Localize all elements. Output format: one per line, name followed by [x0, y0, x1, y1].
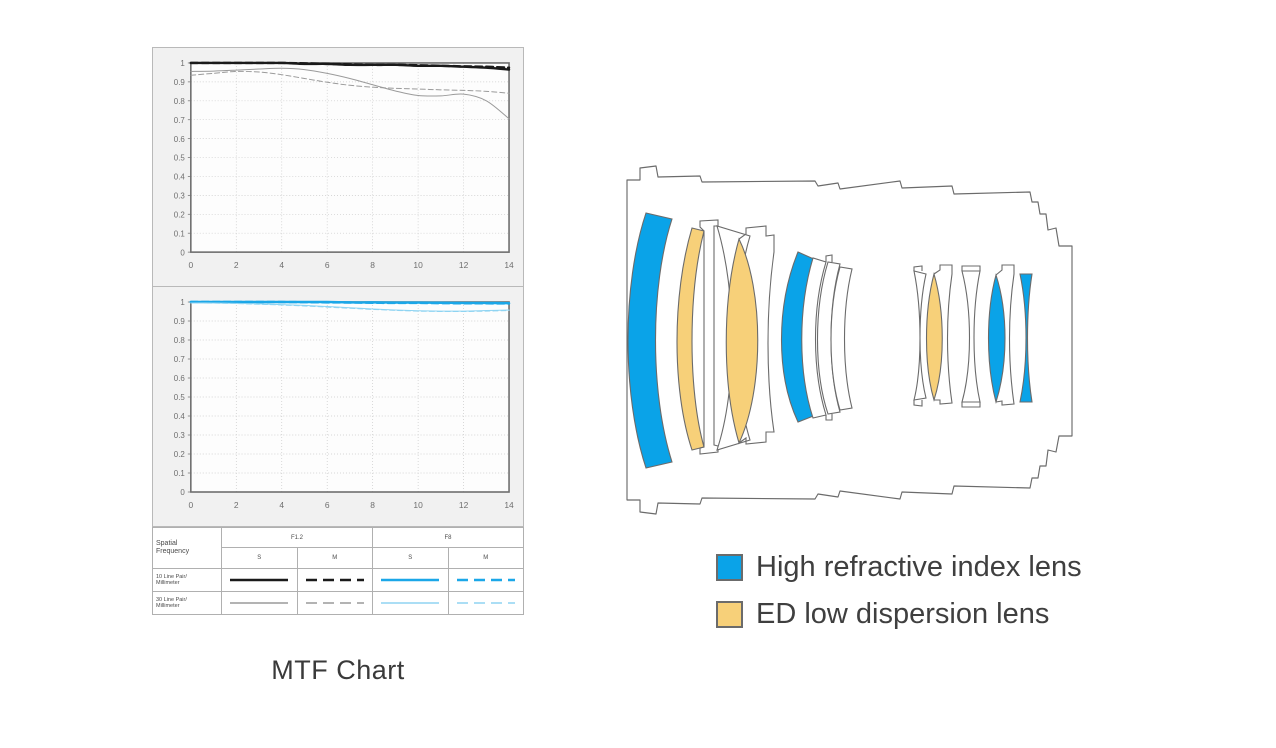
svg-text:0.3: 0.3	[174, 431, 186, 440]
orientation-header-1: M	[297, 548, 373, 569]
svg-text:0.8: 0.8	[174, 97, 186, 106]
legend-item-ed-low-dispersion: ED low dispersion lens	[716, 599, 1082, 629]
svg-text:0.4: 0.4	[174, 412, 186, 421]
svg-text:8: 8	[370, 500, 375, 510]
mtf-chart-upper-panel: 00.10.20.30.40.50.60.70.80.9102468101214	[152, 47, 524, 287]
lens-element-11-clear	[962, 271, 980, 402]
svg-text:0.4: 0.4	[174, 173, 186, 182]
svg-text:1: 1	[180, 298, 185, 307]
svg-text:0.2: 0.2	[174, 450, 186, 459]
line-sample-r0c0	[222, 569, 298, 592]
lens-element-1-high-refractive	[628, 213, 672, 468]
mtf-chart-lower-panel: 00.10.20.30.40.50.60.70.80.9102468101214	[152, 287, 524, 527]
aperture-header-f8: F8	[373, 528, 524, 548]
legend-swatch-ed-low-dispersion	[716, 601, 743, 628]
line-sample-r1c1	[297, 592, 373, 615]
mtf-plot-f8: 00.10.20.30.40.50.60.70.80.9102468101214	[159, 292, 517, 522]
lens-material-legend: High refractive index lens ED low disper…	[716, 552, 1082, 646]
svg-text:0.8: 0.8	[174, 336, 186, 345]
page-title: MTF Chart	[152, 655, 524, 686]
svg-text:12: 12	[459, 260, 469, 270]
orientation-header-3: M	[448, 548, 524, 569]
mtf-plot-f12: 00.10.20.30.40.50.60.70.80.9102468101214	[159, 53, 517, 282]
svg-text:4: 4	[279, 260, 284, 270]
svg-text:0.7: 0.7	[174, 116, 186, 125]
svg-text:0: 0	[188, 500, 193, 510]
table-row: 30 Line Pair/ Millimeter	[153, 592, 524, 615]
line-sample-r1c0	[222, 592, 298, 615]
legend-label-high-refractive: High refractive index lens	[756, 552, 1082, 582]
svg-text:0.3: 0.3	[174, 192, 186, 201]
lens-diagram-svg	[600, 150, 1080, 530]
spatial-frequency-line2: Frequency	[156, 548, 218, 556]
mtf-legend-table: Spatial Frequency F1.2 F8 S M S M 10 Lin…	[152, 527, 524, 615]
line-sample-r0c1	[297, 569, 373, 592]
svg-text:0.1: 0.1	[174, 469, 186, 478]
line-sample-r1c3	[448, 592, 524, 615]
spatial-frequency-line1: Spatial	[156, 540, 218, 548]
aperture-header-f12: F1.2	[222, 528, 373, 548]
svg-text:10: 10	[413, 500, 423, 510]
svg-text:2: 2	[234, 260, 239, 270]
lens-element-9-clear	[914, 271, 926, 400]
mtf-plot-f8-svg: 00.10.20.30.40.50.60.70.80.9102468101214	[159, 292, 517, 522]
line-sample-r0c3	[448, 569, 524, 592]
svg-text:0.2: 0.2	[174, 210, 186, 219]
svg-text:6: 6	[325, 500, 330, 510]
svg-text:0.5: 0.5	[174, 154, 186, 163]
svg-text:0.5: 0.5	[174, 393, 186, 402]
svg-text:0.7: 0.7	[174, 355, 186, 364]
lens-element-12-high-refractive	[989, 275, 1006, 402]
svg-text:4: 4	[279, 500, 284, 510]
lens-element-2-ed-low-dispersion	[677, 228, 704, 450]
svg-text:0.6: 0.6	[174, 374, 186, 383]
mtf-plot-f12-svg: 00.10.20.30.40.50.60.70.80.9102468101214	[159, 53, 517, 282]
row-label-30lpmm-line2: Millimeter	[156, 603, 218, 610]
legend-item-high-refractive: High refractive index lens	[716, 552, 1082, 582]
row-label-10lpmm: 10 Line Pair/ Millimeter	[153, 569, 222, 592]
svg-text:0: 0	[180, 488, 185, 497]
legend-swatch-high-refractive	[716, 554, 743, 581]
svg-text:8: 8	[370, 260, 375, 270]
lens-housing-2	[700, 220, 718, 454]
spatial-frequency-header: Spatial Frequency	[153, 528, 222, 569]
svg-text:0.9: 0.9	[174, 317, 186, 326]
line-sample-r1c2	[373, 592, 449, 615]
table-row: 10 Line Pair/ Millimeter	[153, 569, 524, 592]
lens-element-13-high-refractive	[1020, 274, 1032, 402]
svg-text:0: 0	[188, 260, 193, 270]
svg-text:1: 1	[180, 59, 185, 68]
row-label-10lpmm-line2: Millimeter	[156, 580, 218, 587]
lens-element-10-ed-low-dispersion	[927, 274, 943, 400]
svg-text:10: 10	[413, 260, 423, 270]
legend-table-header-row: Spatial Frequency F1.2 F8	[153, 528, 524, 548]
line-sample-r0c2	[373, 569, 449, 592]
svg-text:0.6: 0.6	[174, 135, 186, 144]
legend-label-ed-low-dispersion: ED low dispersion lens	[756, 599, 1049, 629]
lens-cross-section-diagram	[600, 150, 1080, 530]
row-label-30lpmm: 30 Line Pair/ Millimeter	[153, 592, 222, 615]
svg-text:2: 2	[234, 500, 239, 510]
svg-text:0.9: 0.9	[174, 78, 186, 87]
svg-text:0.1: 0.1	[174, 229, 186, 238]
orientation-header-0: S	[222, 548, 298, 569]
svg-text:12: 12	[459, 500, 469, 510]
svg-text:6: 6	[325, 260, 330, 270]
mtf-chart-block: 00.10.20.30.40.50.60.70.80.9102468101214…	[152, 47, 524, 615]
orientation-header-2: S	[373, 548, 449, 569]
svg-text:14: 14	[504, 260, 514, 270]
svg-text:0: 0	[180, 248, 185, 257]
svg-text:14: 14	[504, 500, 514, 510]
